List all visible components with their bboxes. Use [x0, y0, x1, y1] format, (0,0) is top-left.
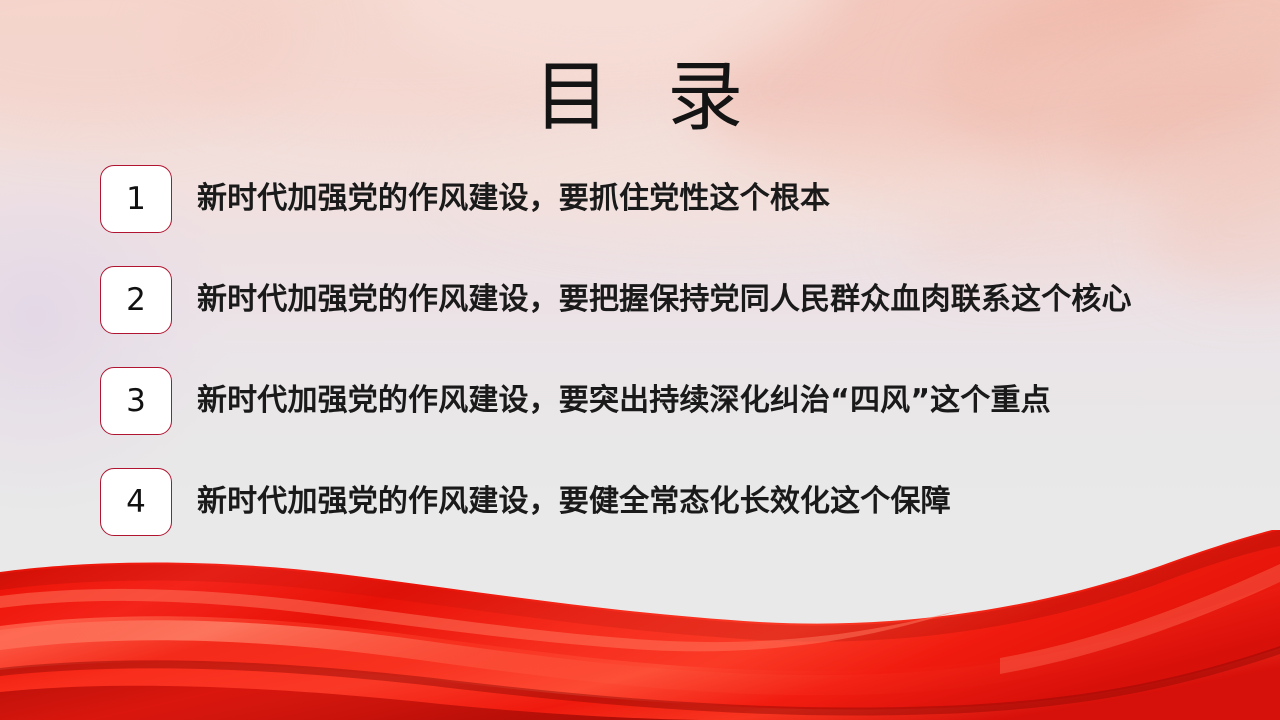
slide-canvas: 目 录 1 新时代加强党的作风建设，要抓住党性这个根本 2 新时代加强党的作风建…: [0, 0, 1280, 720]
toc-item-label-3: 新时代加强党的作风建设，要突出持续深化纠治“四风”这个重点: [197, 383, 1051, 419]
toc-item-label-1: 新时代加强党的作风建设，要抓住党性这个根本: [197, 181, 830, 217]
page-title: 目 录: [0, 55, 1280, 139]
toc-number-badge-4: 4: [100, 468, 172, 536]
toc-item-2[interactable]: 2 新时代加强党的作风建设，要把握保持党同人民群众血肉联系这个核心: [100, 266, 1260, 334]
toc-number-badge-3: 3: [100, 367, 172, 435]
toc-item-3[interactable]: 3 新时代加强党的作风建设，要突出持续深化纠治“四风”这个重点: [100, 367, 1260, 435]
toc-item-label-4: 新时代加强党的作风建设，要健全常态化长效化这个保障: [197, 484, 951, 520]
toc-number-badge-1: 1: [100, 165, 172, 233]
toc-item-4[interactable]: 4 新时代加强党的作风建设，要健全常态化长效化这个保障: [100, 468, 1260, 536]
toc-number-badge-2: 2: [100, 266, 172, 334]
toc-item-label-2: 新时代加强党的作风建设，要把握保持党同人民群众血肉联系这个核心: [197, 282, 1132, 318]
toc-item-1[interactable]: 1 新时代加强党的作风建设，要抓住党性这个根本: [100, 165, 1260, 233]
toc-list: 1 新时代加强党的作风建设，要抓住党性这个根本 2 新时代加强党的作风建设，要把…: [100, 165, 1260, 536]
